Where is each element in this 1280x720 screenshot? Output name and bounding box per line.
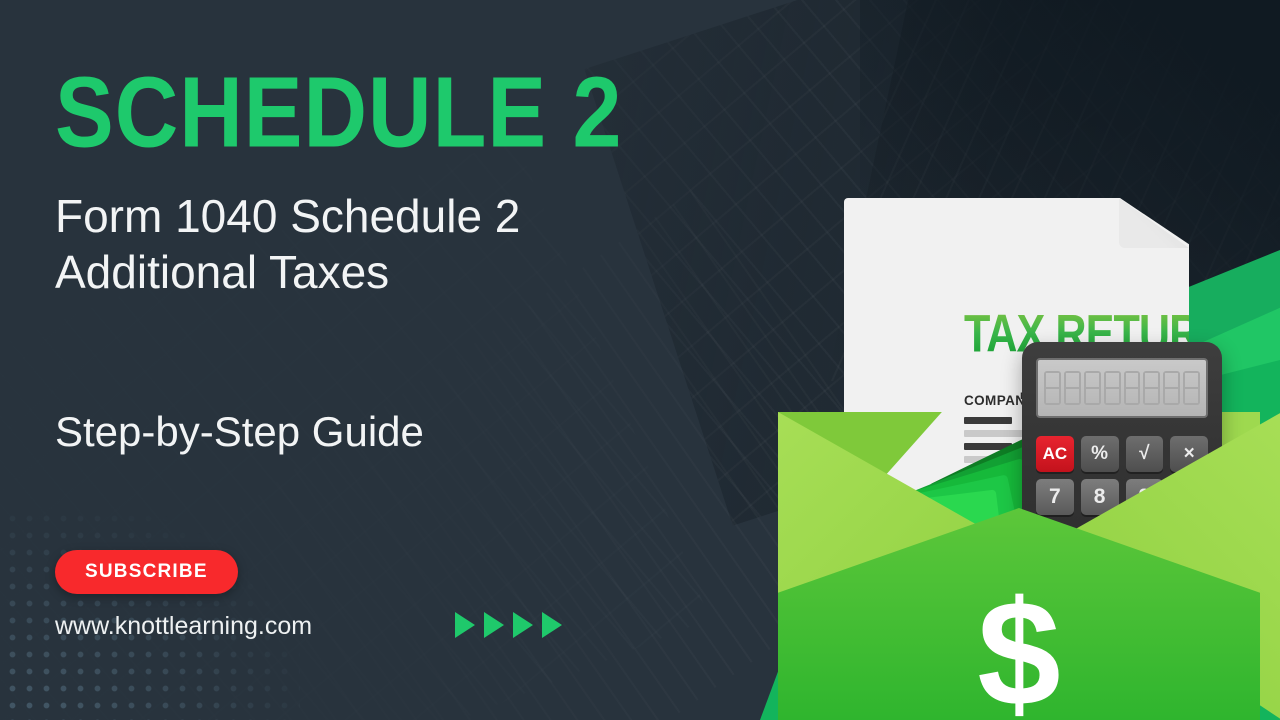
calculator-digit bbox=[1104, 371, 1121, 405]
calculator-key-percent[interactable]: % bbox=[1081, 436, 1119, 472]
calculator-key-7[interactable]: 7 bbox=[1036, 479, 1074, 515]
dollar-sign: $ bbox=[977, 590, 1060, 716]
calculator-key-sqrt[interactable]: √ bbox=[1126, 436, 1164, 472]
play-arrow-icon bbox=[455, 612, 475, 638]
subscribe-button[interactable]: SUBSCRIBE bbox=[55, 550, 238, 594]
play-arrow-icon bbox=[484, 612, 504, 638]
video-thumbnail: TAX RETURN COMPANY NAME Number Date bbox=[0, 0, 1280, 720]
page-subtitle: Form 1040 Schedule 2 Additional Taxes bbox=[55, 188, 520, 300]
play-arrow-icon bbox=[513, 612, 533, 638]
website-url[interactable]: www.knottlearning.com bbox=[55, 612, 312, 641]
calculator-digit bbox=[1084, 371, 1101, 405]
subtitle-line-2: Additional Taxes bbox=[55, 244, 520, 300]
page-title: SCHEDULE 2 bbox=[55, 62, 622, 162]
calculator-display bbox=[1036, 358, 1208, 418]
calculator-key-ac[interactable]: AC bbox=[1036, 436, 1074, 472]
calculator-digit bbox=[1064, 371, 1081, 405]
calculator-digit bbox=[1143, 371, 1160, 405]
play-arrow-icon bbox=[542, 612, 562, 638]
calculator-digit bbox=[1044, 371, 1061, 405]
calculator-digit bbox=[1124, 371, 1141, 405]
subtitle-line-1: Form 1040 Schedule 2 bbox=[55, 188, 520, 244]
play-arrows bbox=[455, 612, 562, 638]
page-tagline: Step-by-Step Guide bbox=[55, 408, 424, 456]
calculator-digit bbox=[1163, 371, 1180, 405]
document-line bbox=[964, 417, 1012, 424]
tax-return-illustration: TAX RETURN COMPANY NAME Number Date bbox=[760, 180, 1280, 720]
calculator-digit bbox=[1183, 371, 1200, 405]
hero-content: SCHEDULE 2 Form 1040 Schedule 2 Addition… bbox=[55, 0, 775, 720]
